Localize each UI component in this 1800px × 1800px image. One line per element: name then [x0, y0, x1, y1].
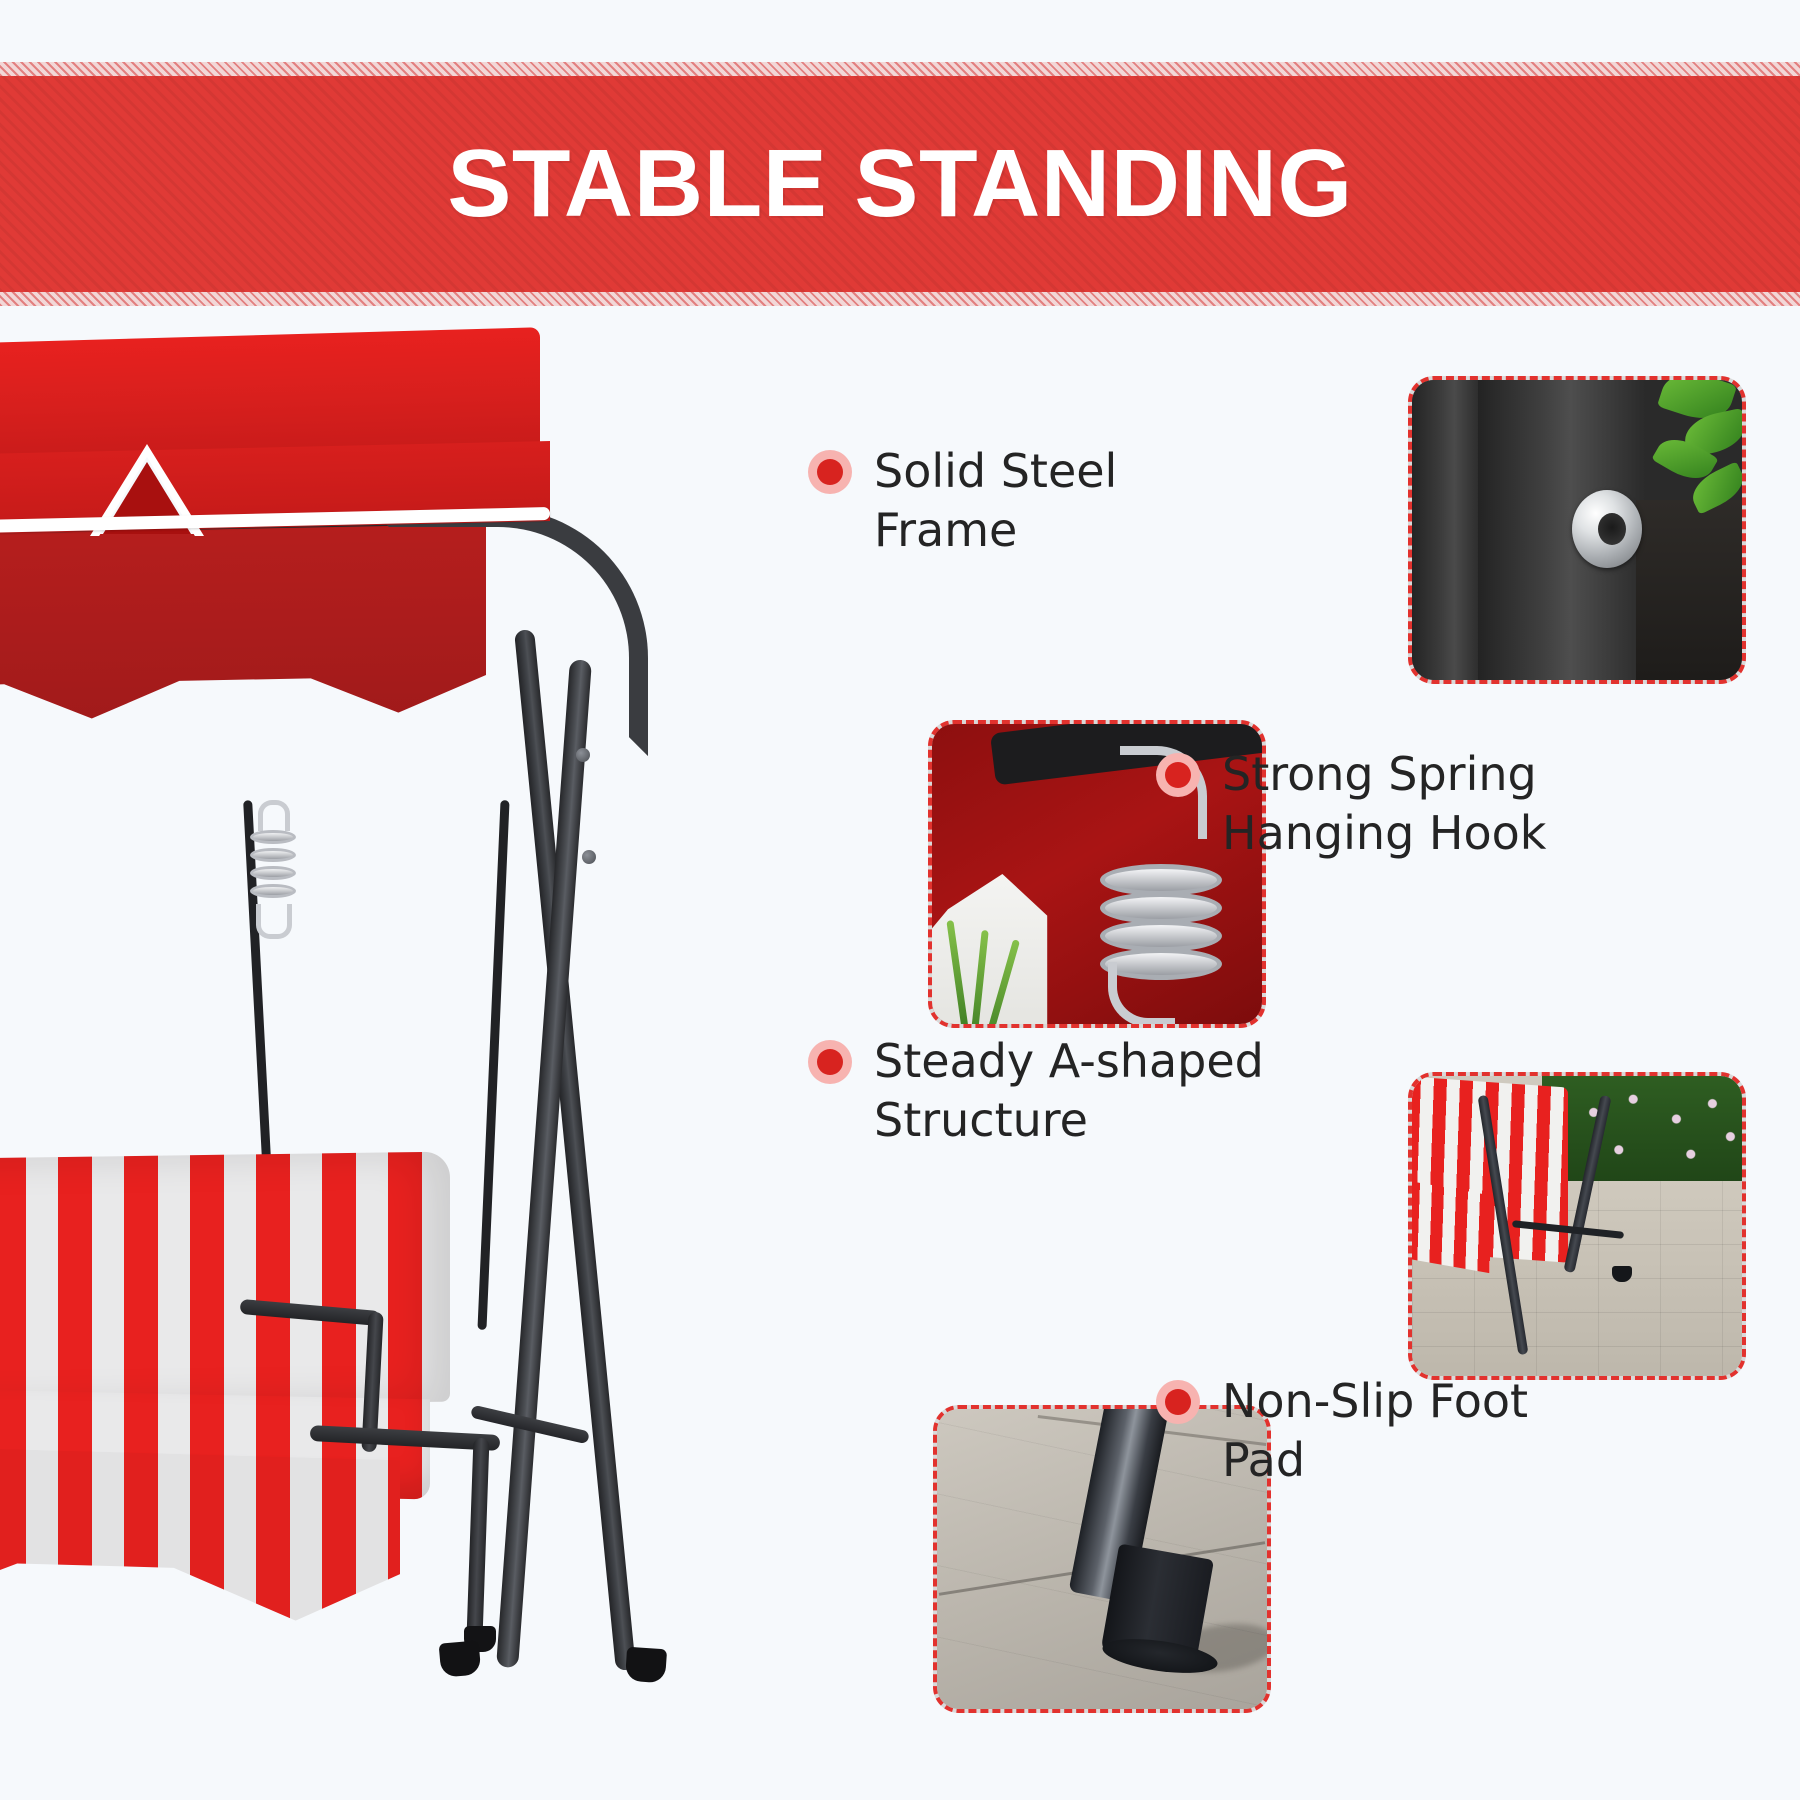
product-hero-image [0, 330, 780, 1660]
frame-rear-foot-pad [439, 1640, 482, 1677]
a-frame-foot-pad [1612, 1266, 1632, 1282]
bullet-dot-icon [1156, 753, 1200, 797]
steel-tube-left [1408, 376, 1484, 684]
spring-coil [250, 848, 296, 862]
inset-photo-steel-frame [1408, 376, 1746, 684]
bullet-dot-icon [1156, 1380, 1200, 1424]
canopy-strap-right [477, 800, 509, 1330]
frame-front-foot-pad [625, 1647, 667, 1684]
banner-top-stripe-edge [0, 62, 1800, 76]
bullet-dot-icon [808, 1040, 852, 1084]
inset-photo-a-frame [1408, 1072, 1746, 1380]
hook-lower-bend [256, 904, 292, 939]
spring-coil [250, 866, 296, 880]
frame-bolt-icon [576, 748, 590, 762]
banner-bottom-stripe-edge [0, 292, 1800, 306]
spring-hanging-hook [236, 800, 300, 940]
hook-upper-bend [258, 800, 290, 831]
frame-bolt-icon [582, 850, 596, 864]
soil-ground [1636, 500, 1746, 680]
feature-label: Strong Spring Hanging Hook [1222, 745, 1546, 863]
feature-callout-solid-steel-frame: Solid Steel Frame [808, 442, 1238, 560]
feature-callout-non-slip-foot-pad: Non-Slip Foot Pad [1156, 1372, 1676, 1490]
striped-seat-skirt [1408, 1181, 1490, 1273]
feature-label: Non-Slip Foot Pad [1222, 1372, 1528, 1490]
feature-label: Solid Steel Frame [874, 442, 1117, 560]
feature-label: Steady A-shaped Structure [874, 1032, 1264, 1150]
feature-callout-strong-spring-hanging-hook: Strong Spring Hanging Hook [1156, 745, 1676, 863]
header-banner: STABLE STANDING [0, 62, 1800, 306]
spring-coil [250, 884, 296, 898]
seat-support-leg [467, 1438, 490, 1638]
bolt-socket-hole [1598, 513, 1626, 545]
seat-backrest-cushion [0, 1152, 450, 1415]
spring-coil [250, 830, 296, 844]
banner-body: STABLE STANDING [0, 76, 1800, 292]
page-title: STABLE STANDING [447, 136, 1352, 232]
feature-callout-steady-a-shaped-structure: Steady A-shaped Structure [808, 1032, 1328, 1150]
bullet-dot-icon [808, 450, 852, 494]
seat-skirt-valance [0, 1436, 400, 1650]
frame-curved-arm [370, 508, 648, 756]
